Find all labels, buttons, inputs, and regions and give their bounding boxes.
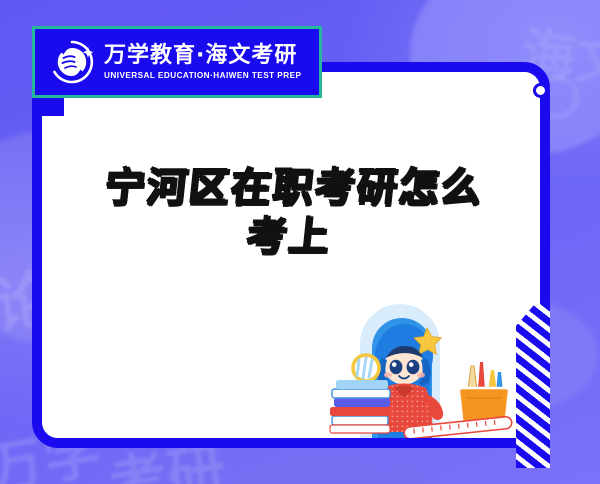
brand-banner: 万学教育·海文考研 UNIVERSAL EDUCATION·HAIWEN TES… — [32, 26, 322, 98]
content-card: 宁河区在职考研怎么 考上 — [32, 62, 550, 448]
banner-tab-accent — [42, 98, 64, 116]
illustration-student-with-magnifier — [326, 270, 536, 438]
page-title-line-2: 考上 — [244, 214, 333, 260]
brand-name-cn: 万学教育·海文考研 — [104, 44, 301, 68]
page-title-line-1: 宁河区在职考研怎么 — [102, 165, 485, 211]
content-card-inner: 宁河区在职考研怎么 考上 — [42, 72, 540, 438]
cover-image-canvas: 论 万学 考研 海文 宁河区在职考研怎么 考上 — [0, 0, 600, 484]
brand-name-en: UNIVERSAL EDUCATION·HAIWEN TEST PREP — [104, 71, 301, 80]
brand-text-block: 万学教育·海文考研 UNIVERSAL EDUCATION·HAIWEN TES… — [104, 44, 301, 80]
page-title: 宁河区在职考研怎么 考上 — [42, 164, 540, 262]
swirl-globe-logo-icon — [49, 39, 95, 85]
frame-corner-dot — [533, 83, 548, 98]
